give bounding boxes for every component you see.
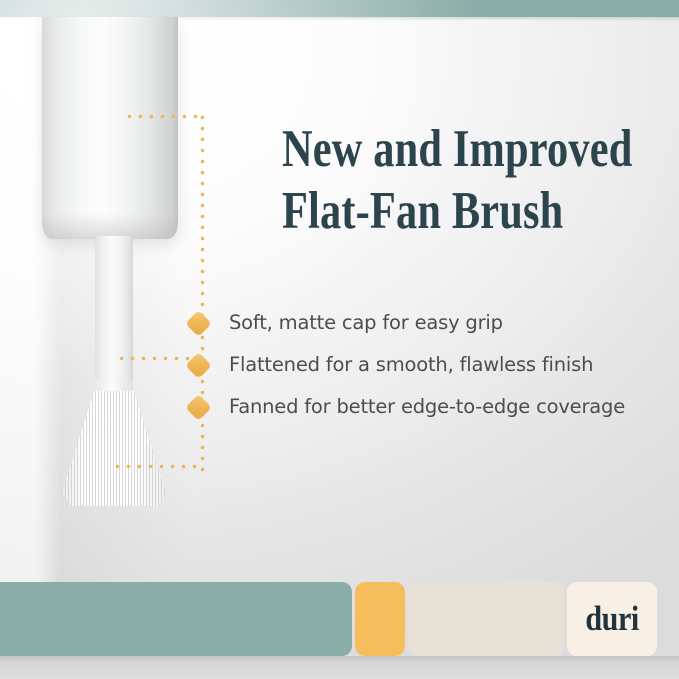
- top-accent-band: [0, 0, 679, 17]
- headline-line-1: New and Improved: [282, 118, 672, 180]
- page-title: New and Improved Flat-Fan Brush: [282, 118, 594, 242]
- brush-handle: [95, 236, 133, 391]
- headline-line-2: Flat-Fan Brush: [282, 180, 672, 242]
- bristles-shading: [62, 391, 166, 506]
- brand-logo: duri: [585, 601, 638, 636]
- feature-text: Fanned for better edge-to-edge coverage: [229, 395, 658, 419]
- feature-list: Soft, matte cap for easy grip Flattened …: [188, 302, 658, 428]
- strip-segment-beige: [408, 582, 564, 656]
- product-feature-poster: New and Improved Flat-Fan Brush Soft, ma…: [0, 0, 679, 679]
- dotted-connector-cap: [124, 114, 204, 119]
- nail-polish-cap: [42, 17, 178, 239]
- strip-segment-logo: duri: [567, 582, 657, 656]
- brush-ferrule: [95, 379, 133, 393]
- strip-segment-amber: [355, 582, 405, 656]
- dotted-connector-bristles: [112, 464, 204, 469]
- diamond-bullet-icon: [185, 394, 212, 421]
- diamond-bullet-icon: [185, 352, 212, 379]
- list-item: Soft, matte cap for easy grip: [188, 302, 658, 344]
- feature-text: Flattened for a smooth, flawless finish: [229, 353, 658, 377]
- list-item: Fanned for better edge-to-edge coverage: [188, 386, 658, 428]
- brand-strip-shadow: [0, 656, 679, 662]
- brand-strip: duri: [0, 582, 679, 656]
- strip-segment-teal: [0, 582, 352, 656]
- product-image: [0, 17, 230, 507]
- feature-text: Soft, matte cap for easy grip: [229, 311, 658, 335]
- list-item: Flattened for a smooth, flawless finish: [188, 344, 658, 386]
- diamond-bullet-icon: [185, 310, 212, 337]
